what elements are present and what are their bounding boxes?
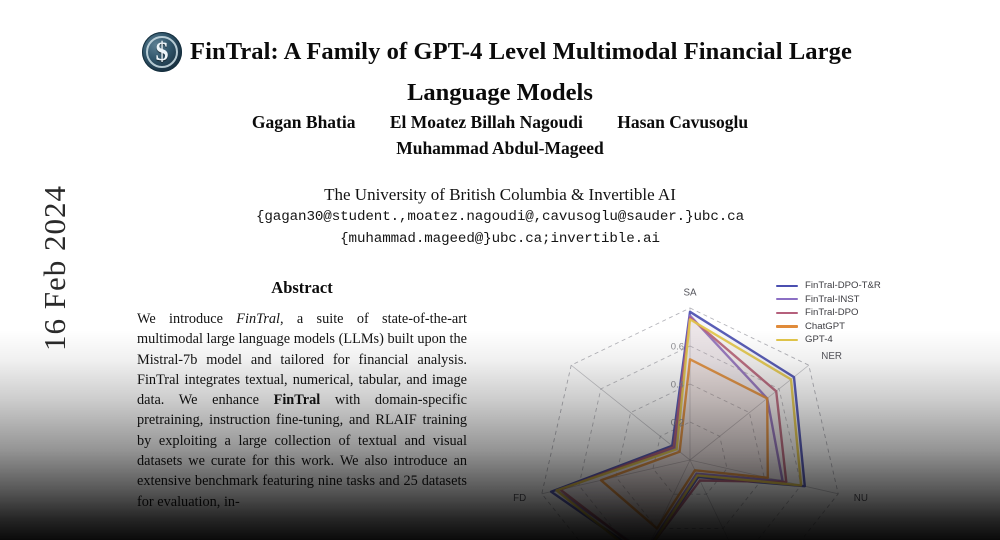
author-list: Gagan Bhatia El Moatez Billah Nagoudi Ha… [120, 112, 880, 159]
legend-color-swatch [776, 339, 798, 341]
author-row-primary: Gagan Bhatia El Moatez Billah Nagoudi Ha… [120, 112, 880, 133]
legend-label: FinTral-DPO-T&R [805, 281, 881, 291]
radar-axis-label-fd: FD [513, 493, 526, 504]
legend-item[interactable]: FinTral-DPO-T&R [776, 279, 881, 293]
legend-item[interactable]: GPT-4 [776, 333, 881, 347]
legend-label: ChatGPT [805, 322, 845, 332]
legend-color-swatch [776, 325, 798, 327]
radar-tick-label: 0.2 [671, 418, 684, 429]
legend-color-swatch [776, 312, 798, 314]
radar-axis-label-sa: SA [683, 288, 697, 299]
paper-title-block: FinTral: A Family of GPT-4 Level Multimo… [120, 32, 880, 108]
affiliation-name: The University of British Columbia & Inv… [120, 184, 880, 206]
legend-label: GPT-4 [805, 335, 833, 345]
email-line-secondary: {muhammad.mageed@}ubc.ca;invertible.ai [120, 228, 880, 250]
legend-item[interactable]: FinTral-DPO [776, 306, 881, 320]
title-second-line: Language Models [120, 78, 880, 108]
page-title: FinTral: A Family of GPT-4 Level Multimo… [190, 37, 852, 67]
dollar-coin-icon [142, 32, 182, 72]
legend-color-swatch [776, 298, 798, 300]
abstract-model-name-bold: FinTral [274, 392, 321, 408]
legend-color-swatch [776, 285, 798, 287]
radar-axis-label-ner: NER [821, 351, 842, 362]
paper-page: 16 Feb 2024 FinTral: A Family of GPT-4 L… [0, 0, 1000, 540]
title-first-line: FinTral: A Family of GPT-4 Level Multimo… [120, 32, 880, 72]
author-name: El Moatez Billah Nagoudi [390, 112, 583, 133]
author-name: Gagan Bhatia [252, 112, 356, 133]
legend-label: FinTral-DPO [805, 308, 858, 318]
abstract-seg-5: with domain-specific pretraining, instru… [137, 392, 467, 509]
legend-item[interactable]: ChatGPT [776, 320, 881, 334]
abstract-text: We introduce FinTral, a suite of state-o… [137, 309, 467, 512]
affiliation-block: The University of British Columbia & Inv… [120, 184, 880, 250]
abstract-heading: Abstract [137, 278, 467, 298]
radar-tick-label: 0.6 [671, 342, 684, 353]
author-name: Muhammad Abdul-Mageed [120, 138, 880, 159]
chart-legend: FinTral-DPO-T&RFinTral-INSTFinTral-DPOCh… [776, 279, 881, 347]
arxiv-date-stamp: 16 Feb 2024 [37, 153, 73, 383]
email-line-primary: {gagan30@student.,moatez.nagoudi@,cavuso… [120, 206, 880, 228]
radar-axis-label-nu: NU [854, 493, 868, 504]
legend-item[interactable]: FinTral-INST [776, 293, 881, 307]
radar-tick-label: 0.4 [671, 380, 684, 391]
abstract-section: Abstract We introduce FinTral, a suite o… [137, 278, 467, 512]
author-name: Hasan Cavusoglu [617, 112, 748, 133]
legend-label: FinTral-INST [805, 295, 860, 305]
abstract-seg-1: We introduce [137, 311, 236, 327]
abstract-model-name-italic: FinTral [236, 311, 280, 327]
